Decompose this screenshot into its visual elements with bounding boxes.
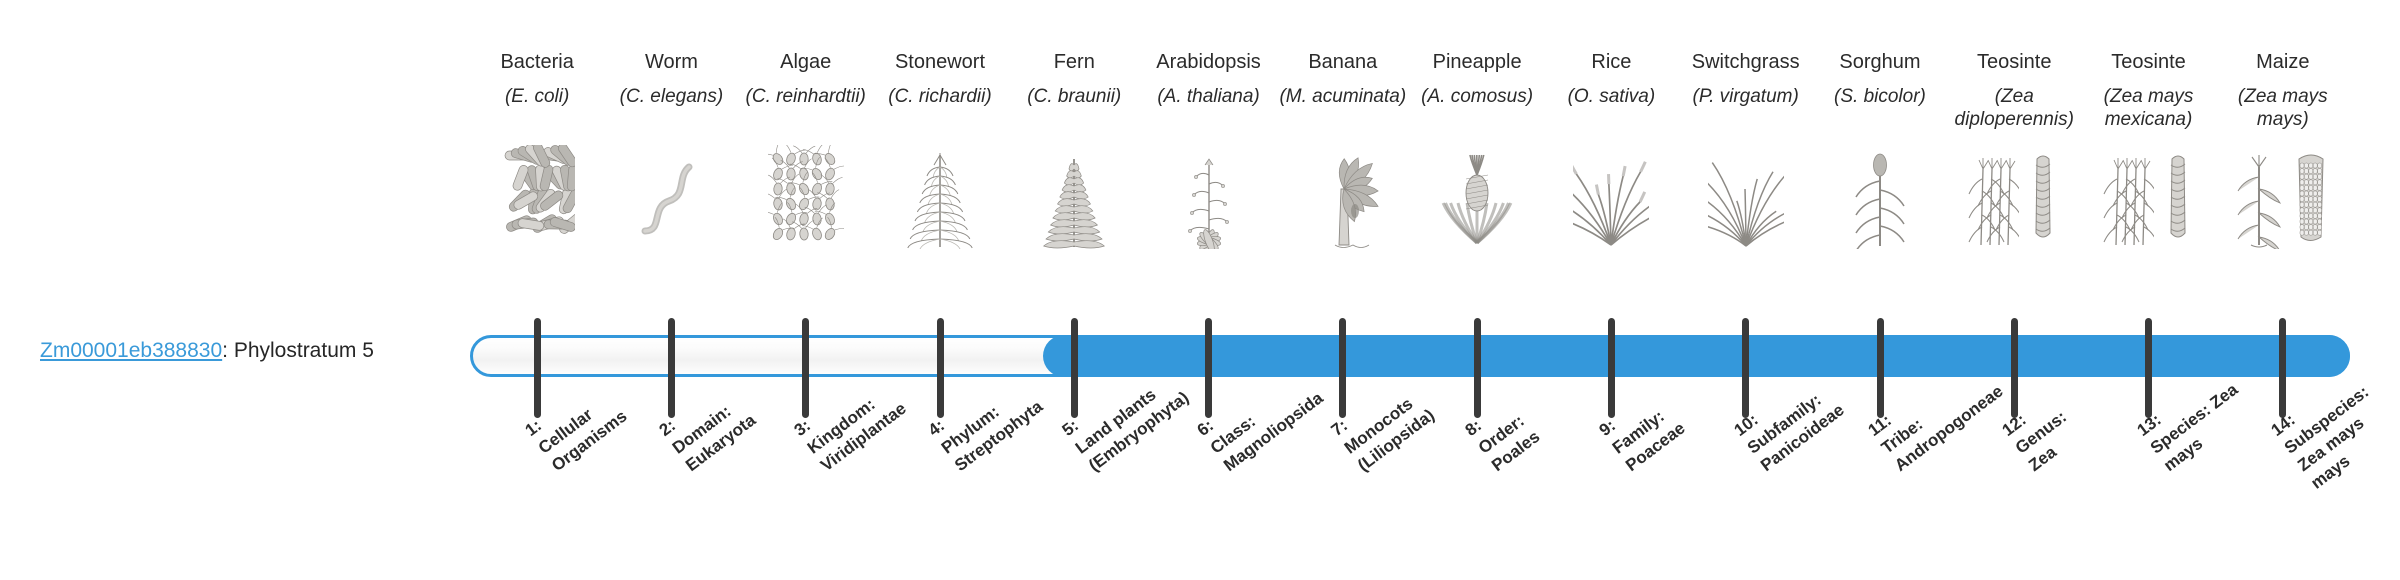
arabidopsis-rosette-illustration <box>1141 139 1275 249</box>
stonewort-alga-illustration <box>873 139 1007 249</box>
species-common-name: Worm <box>645 50 698 76</box>
species-column: Banana(M. acuminata) <box>1276 50 1410 310</box>
species-latin-name: (Zea mays mays) <box>2216 85 2350 133</box>
species-column: Teosinte(Zea mays mexicana) <box>2081 50 2215 310</box>
species-column: Stonewort(C. richardii) <box>873 50 1007 310</box>
species-latin-name: (Zea diploperennis) <box>1947 85 2081 133</box>
maize-plant-and-cob-illustration <box>2216 139 2350 249</box>
species-common-name: Teosinte <box>2111 50 2186 76</box>
species-latin-name: (C. braunii) <box>1007 85 1141 133</box>
species-latin-name: (C. reinhardtii) <box>739 85 873 133</box>
species-column: Rice(O. sativa) <box>1544 50 1678 310</box>
species-latin-name: (C. richardii) <box>873 85 1007 133</box>
gene-label-separator: : <box>222 339 234 362</box>
species-latin-name: (C. elegans) <box>604 85 738 133</box>
gene-id-link[interactable]: Zm00001eb388830 <box>40 339 222 362</box>
species-latin-name: (P. virgatum) <box>1679 85 1813 133</box>
pineapple-plant-illustration <box>1410 139 1544 249</box>
species-common-name: Maize <box>2256 50 2309 76</box>
phylostratum-figure: Zm00001eb388830: Phylostratum 5 Bacteria… <box>0 0 2400 580</box>
species-column: Pineapple(A. comosus) <box>1410 50 1544 310</box>
green-algae-cells-illustration <box>739 139 873 249</box>
phylostratum-value-text: Phylostratum 5 <box>234 339 374 362</box>
species-column: Worm(C. elegans) <box>604 50 738 310</box>
rice-plant-illustration <box>1544 139 1678 249</box>
species-common-name: Teosinte <box>1977 50 2052 76</box>
species-column: Fern(C. braunii) <box>1007 50 1141 310</box>
species-common-name: Switchgrass <box>1692 50 1800 76</box>
fern-frond-illustration <box>1007 139 1141 249</box>
species-common-name: Algae <box>780 50 831 76</box>
species-common-name: Bacteria <box>500 50 573 76</box>
species-column: Algae(C. reinhardtii) <box>739 50 873 310</box>
species-column: Sorghum(S. bicolor) <box>1813 50 1947 310</box>
gene-phylostratum-label: Zm00001eb388830: Phylostratum 5 <box>40 338 374 364</box>
species-latin-name: (A. thaliana) <box>1141 85 1275 133</box>
species-common-name: Rice <box>1591 50 1631 76</box>
species-latin-name: (O. sativa) <box>1544 85 1678 133</box>
species-latin-name: (Zea mays mexicana) <box>2081 85 2215 133</box>
switchgrass-plant-illustration <box>1679 139 1813 249</box>
species-latin-name: (S. bicolor) <box>1813 85 1947 133</box>
teosinte-plant-and-ear-illustration <box>1947 139 2081 249</box>
species-common-name: Banana <box>1308 50 1377 76</box>
species-column: Arabidopsis(A. thaliana) <box>1141 50 1275 310</box>
sorghum-plant-illustration <box>1813 139 1947 249</box>
species-common-name: Fern <box>1054 50 1095 76</box>
species-common-name: Stonewort <box>895 50 985 76</box>
species-common-name: Arabidopsis <box>1156 50 1261 76</box>
species-latin-name: (A. comosus) <box>1410 85 1544 133</box>
species-latin-name: (M. acuminata) <box>1276 85 1410 133</box>
species-common-name: Sorghum <box>1839 50 1920 76</box>
nematode-worm-illustration <box>604 139 738 249</box>
species-row: Bacteria(E. coli)Worm(C. elegans) Algae(… <box>470 50 2350 310</box>
species-column: Maize(Zea mays mays) <box>2216 50 2350 310</box>
teosinte-plant-and-ear-illustration <box>2081 139 2215 249</box>
bacteria-rods-illustration <box>470 139 604 249</box>
banana-plant-illustration <box>1276 139 1410 249</box>
species-column: Switchgrass(P. virgatum) <box>1679 50 1813 310</box>
species-latin-name: (E. coli) <box>470 85 604 133</box>
species-column: Bacteria(E. coli) <box>470 50 604 310</box>
stratum-labels: 1: Cellular Organisms2: Domain: Eukaryot… <box>470 424 2350 580</box>
species-column: Teosinte(Zea diploperennis) <box>1947 50 2081 310</box>
species-common-name: Pineapple <box>1433 50 1522 76</box>
